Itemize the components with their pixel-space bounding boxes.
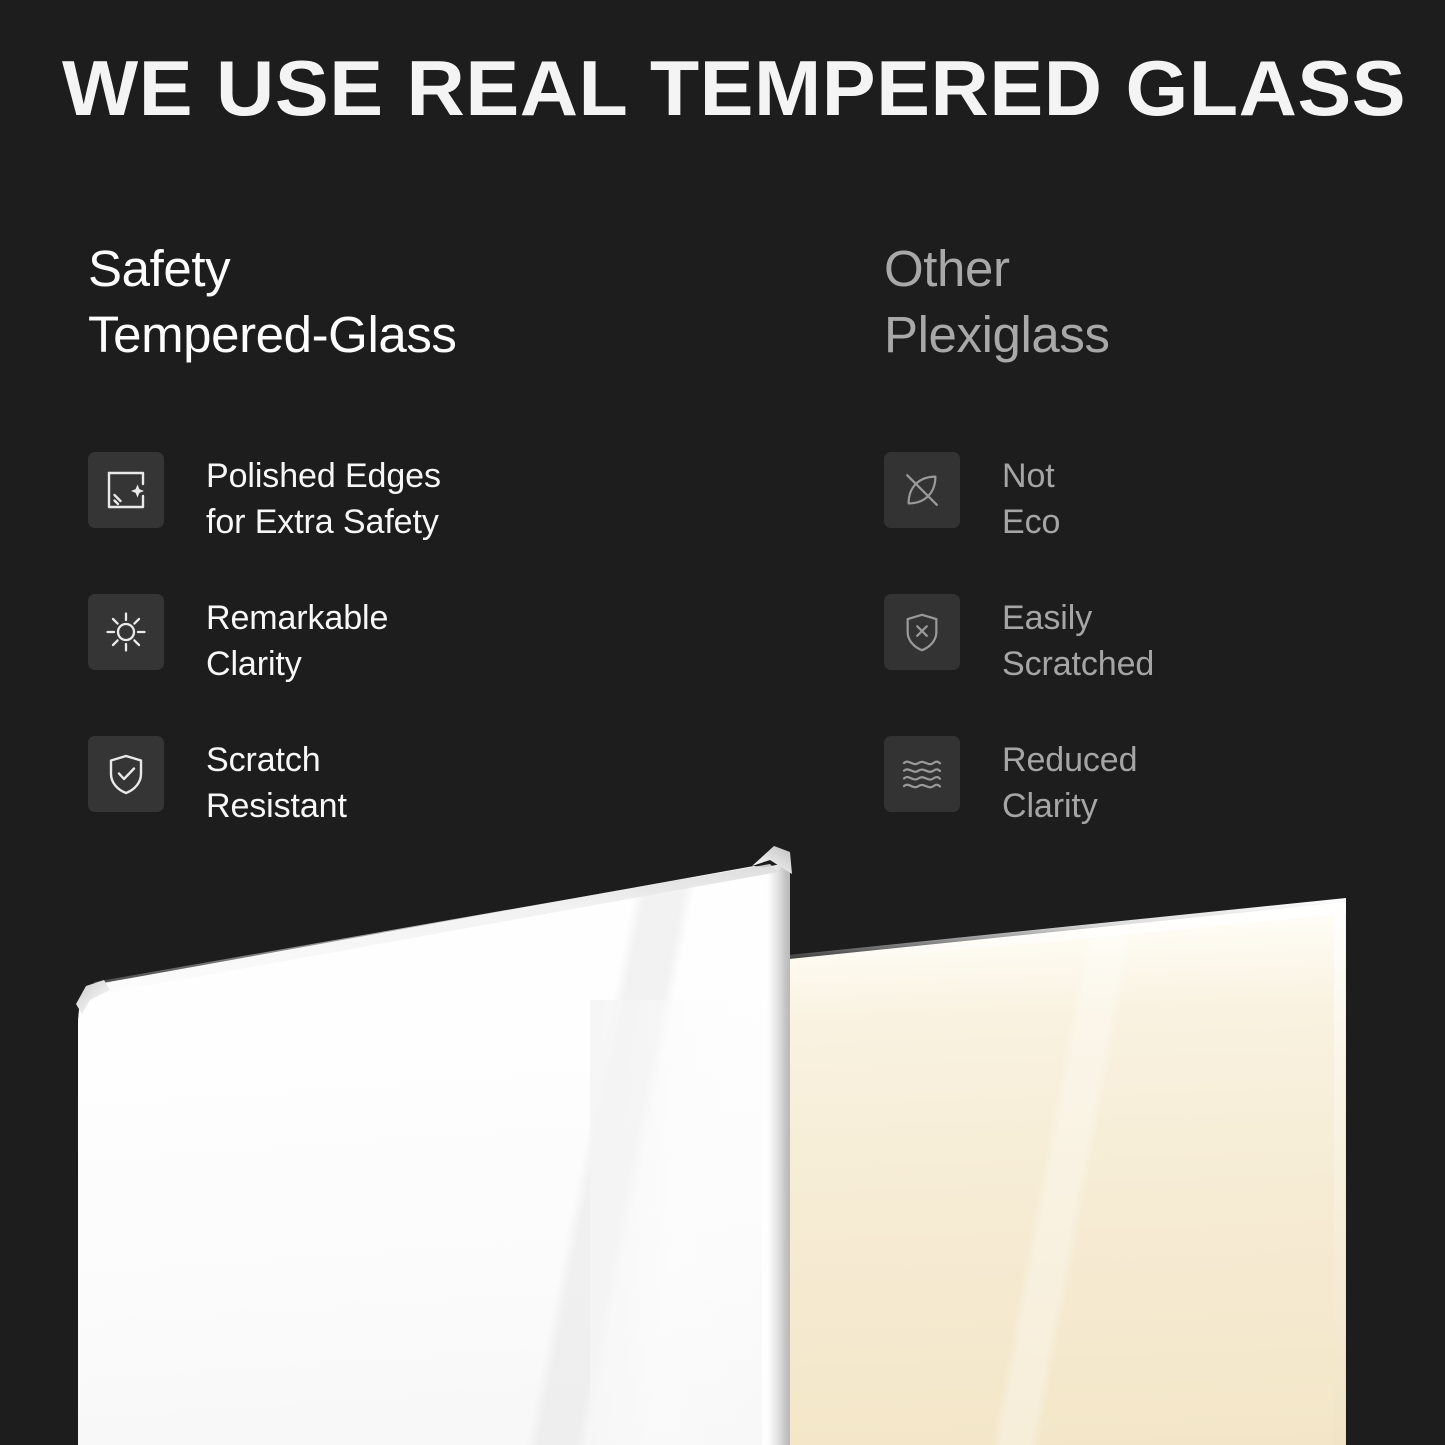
sun-brightness-icon bbox=[88, 594, 164, 670]
leaf-slash-icon bbox=[884, 452, 960, 528]
tempered-glass-panel-reflection bbox=[590, 1000, 780, 1445]
glass-panels-photo bbox=[0, 840, 1445, 1445]
plexiglass-panel bbox=[789, 902, 1345, 1445]
feature-label-scratch-resistant: Scratch Resistant bbox=[206, 734, 347, 829]
polished-glass-sparkle-icon bbox=[88, 452, 164, 528]
feature-item-remarkable-clarity: Remarkable Clarity bbox=[88, 592, 648, 734]
feature-label-polished-edges: Polished Edges for Extra Safety bbox=[206, 450, 441, 545]
column-title-tempered-glass: Safety Tempered-Glass bbox=[88, 236, 648, 368]
feature-list-plexiglass: Not Eco Easily Scratched bbox=[884, 450, 1444, 876]
feature-label-easily-scratched: Easily Scratched bbox=[1002, 592, 1154, 687]
comparison-column-plexiglass: Other Plexiglass Not Eco bbox=[884, 236, 1444, 368]
feature-label-not-eco: Not Eco bbox=[1002, 450, 1060, 545]
page-title: WE USE REAL TEMPERED GLASS bbox=[62, 42, 1439, 134]
feature-list-tempered-glass: Polished Edges for Extra Safety bbox=[88, 450, 648, 876]
feature-item-polished-edges: Polished Edges for Extra Safety bbox=[88, 450, 648, 592]
column-title-plexiglass: Other Plexiglass bbox=[884, 236, 1444, 368]
shield-check-icon bbox=[88, 736, 164, 812]
comparison-column-tempered-glass: Safety Tempered-Glass Polished Edges for… bbox=[88, 236, 648, 368]
feature-item-not-eco: Not Eco bbox=[884, 450, 1444, 592]
plexiglass-panel-right-edge bbox=[1334, 902, 1346, 1445]
shield-x-icon bbox=[884, 594, 960, 670]
feature-label-remarkable-clarity: Remarkable Clarity bbox=[206, 592, 388, 687]
tempered-glass-panel-right-edge bbox=[762, 862, 790, 1445]
feature-item-easily-scratched: Easily Scratched bbox=[884, 592, 1444, 734]
product-comparison-infographic: WE USE REAL TEMPERED GLASS Safety Temper… bbox=[0, 0, 1445, 1445]
wavy-lines-icon bbox=[884, 736, 960, 812]
feature-label-reduced-clarity: Reduced Clarity bbox=[1002, 734, 1137, 829]
